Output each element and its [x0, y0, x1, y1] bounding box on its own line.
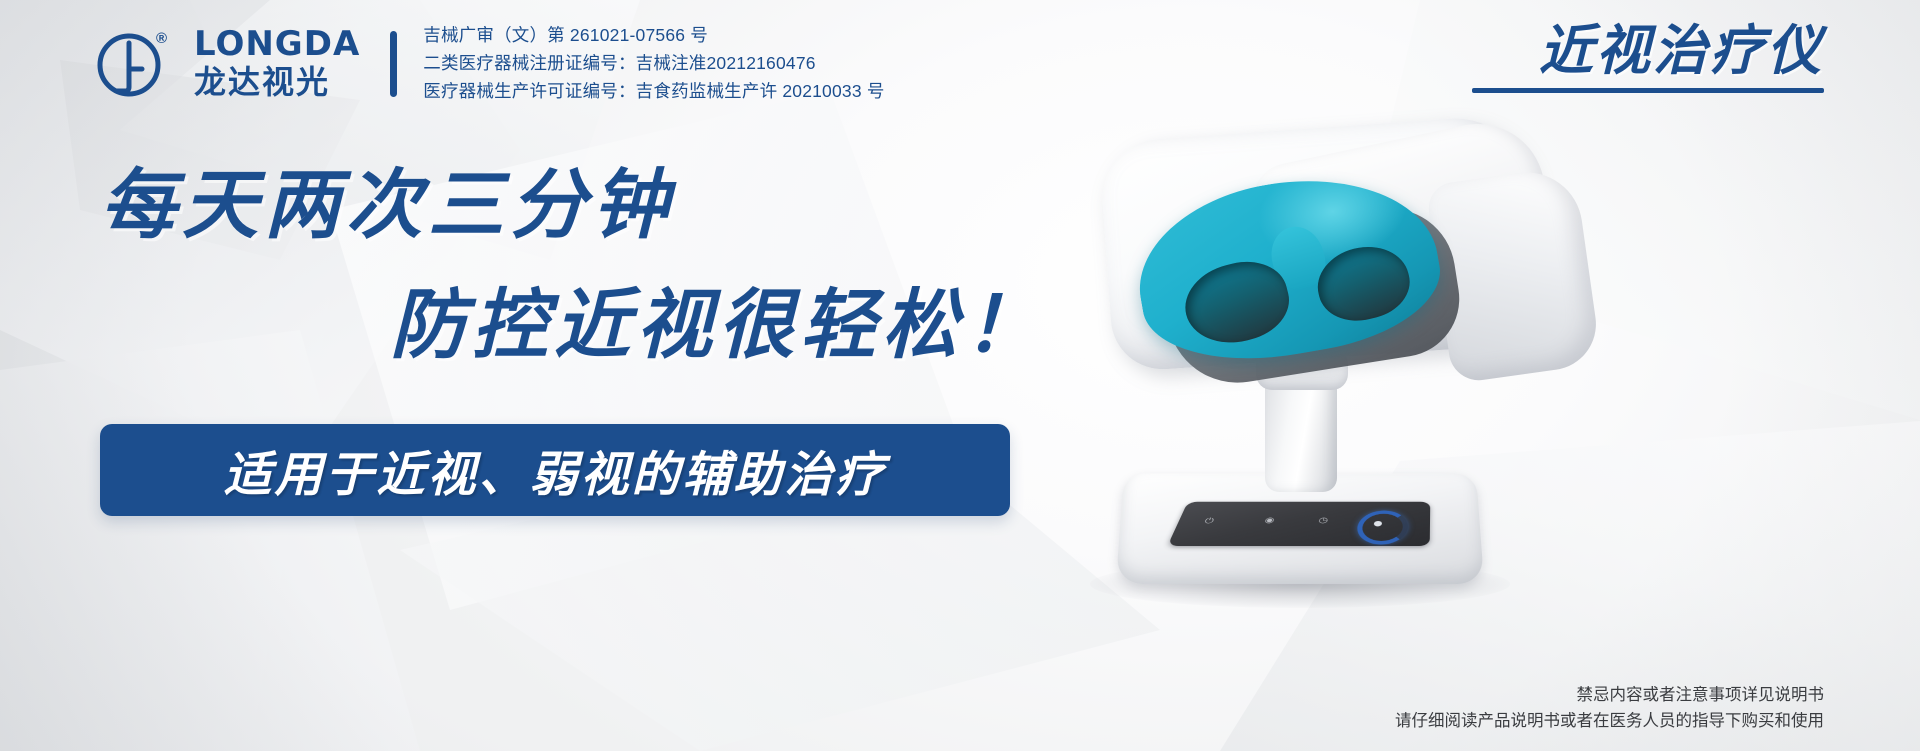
regulatory-disclaimer: 禁忌内容或者注意事项详见说明书 请仔细阅读产品说明书或者在医务人员的指导下购买和…: [1395, 682, 1824, 735]
mode-dial-icon: [1355, 511, 1409, 545]
certification-list: 吉械广审（文）第 261021-07566 号 二类医疗器械注册证编号：吉械注准…: [423, 23, 884, 105]
disclaimer-line: 禁忌内容或者注意事项详见说明书: [1395, 682, 1824, 709]
product-title-block: 近视治疗仪: [1472, 24, 1824, 93]
power-icon: ⏻: [1203, 517, 1215, 526]
brand-wordmark: LONGDA 龙达视光: [194, 27, 360, 100]
certification-line: 二类医疗器械注册证编号：吉械注准20212160476: [423, 51, 884, 77]
circle-power-icon: ®: [96, 29, 166, 99]
product-title: 近视治疗仪: [1472, 24, 1824, 78]
eye-icon: ◉: [1264, 516, 1276, 525]
brand-header: ® LONGDA 龙达视光 吉械广审（文）第 261021-07566 号 二类…: [96, 22, 885, 106]
certification-line: 吉械广审（文）第 261021-07566 号: [423, 23, 884, 49]
certification-line: 医疗器械生产许可证编号：吉食药监械生产许 20210033 号: [423, 79, 884, 105]
device-control-panel: ⏻ ◉ ◷: [1167, 502, 1430, 546]
device-head: [1099, 113, 1544, 372]
vertical-divider: [390, 31, 397, 97]
registered-trademark-icon: ®: [156, 31, 167, 46]
promo-banner: ® LONGDA 龙达视光 吉械广审（文）第 261021-07566 号 二类…: [0, 0, 1920, 751]
brand-logo: ® LONGDA 龙达视光: [96, 27, 360, 100]
headline-line-2: 防控近视很轻松！: [390, 288, 1046, 364]
brand-latin-name: LONGDA: [194, 27, 360, 61]
product-device-image: ⏻ ◉ ◷: [1060, 90, 1620, 650]
brand-chinese-name: 龙达视光: [194, 65, 360, 100]
indication-banner-text: 适用于近视、弱视的辅助治疗: [223, 435, 886, 505]
timer-icon: ◷: [1318, 516, 1329, 525]
disclaimer-line: 请仔细阅读产品说明书或者在医务人员的指导下购买和使用: [1395, 708, 1824, 735]
background-vignette: [0, 0, 1920, 751]
headline-line-1: 每天两次三分钟: [100, 168, 674, 244]
eyecup-opening-right: [1310, 237, 1417, 329]
indication-banner: 适用于近视、弱视的辅助治疗: [100, 424, 1010, 516]
